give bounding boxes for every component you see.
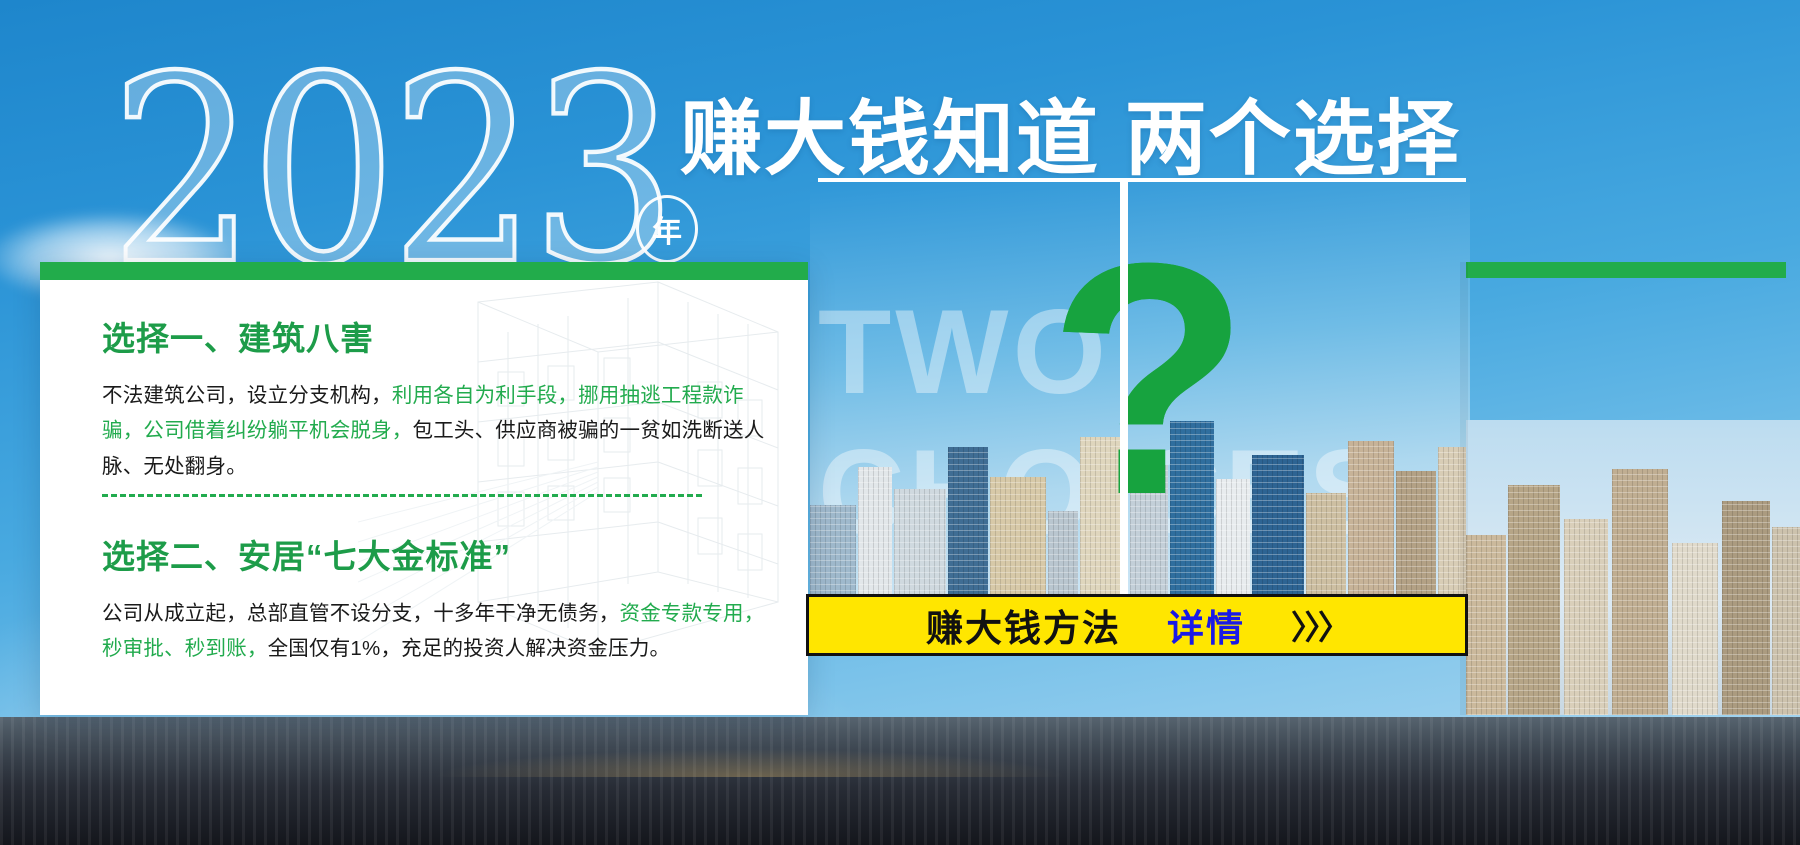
cta-details-link[interactable]: 详情 xyxy=(1167,598,1245,652)
content-card: 选择一、建筑八害 不法建筑公司，设立分支机构，利用各自为利手段，挪用抽逃工程款诈… xyxy=(40,262,808,715)
poster-stage: 2023 2023 年 赚大钱知道 两个选择 TWO CHOICES ? xyxy=(0,0,1800,845)
section-2: 选择二、安居“七大金标准” 公司从成立起，总部直管不设分支，十多年干净无债务，资… xyxy=(102,530,802,667)
section-divider xyxy=(102,494,702,497)
cta-banner[interactable]: 赚大钱方法 详情 〉〉〉 xyxy=(806,594,1468,656)
right-green-accent-strip xyxy=(1466,262,1786,278)
bottom-photo-glow xyxy=(300,717,1200,777)
year-unit-badge: 年 xyxy=(636,195,698,263)
section-2-body-part-1: 公司从成立起，总部直管不设分支，十多年干净无债务， xyxy=(102,602,620,625)
section-2-body-part-3: 全国仅有1%，充足的投资人解决资金压力。 xyxy=(268,637,671,660)
section-1-heading: 选择一、建筑八害 xyxy=(102,312,802,360)
section-2-heading: 选择二、安居“七大金标准” xyxy=(102,530,802,578)
section-1-body: 不法建筑公司，设立分支机构，利用各自为利手段，挪用抽逃工程款诈骗，公司借着纠纷躺… xyxy=(102,378,782,484)
section-2-body: 公司从成立起，总部直管不设分支，十多年干净无债务，资金专款专用，秒审批、秒到账，… xyxy=(102,596,782,667)
right-photo-panel: TWO CHOICES ? xyxy=(810,182,1470,597)
section-1: 选择一、建筑八害 不法建筑公司，设立分支机构，利用各自为利手段，挪用抽逃工程款诈… xyxy=(102,312,802,484)
page-title: 赚大钱知道 两个选择 xyxy=(680,72,1461,191)
bottom-photo-strip xyxy=(0,717,1800,845)
question-mark-icon: ? xyxy=(1048,214,1250,544)
chevron-right-icon: 〉〉〉 xyxy=(1291,601,1348,649)
right-city-photo xyxy=(1466,420,1800,715)
section-1-body-part-1: 不法建筑公司，设立分支机构， xyxy=(102,384,392,407)
cta-main-label: 赚大钱方法 xyxy=(926,598,1121,652)
right-panel-vertical-rule xyxy=(1120,182,1128,597)
